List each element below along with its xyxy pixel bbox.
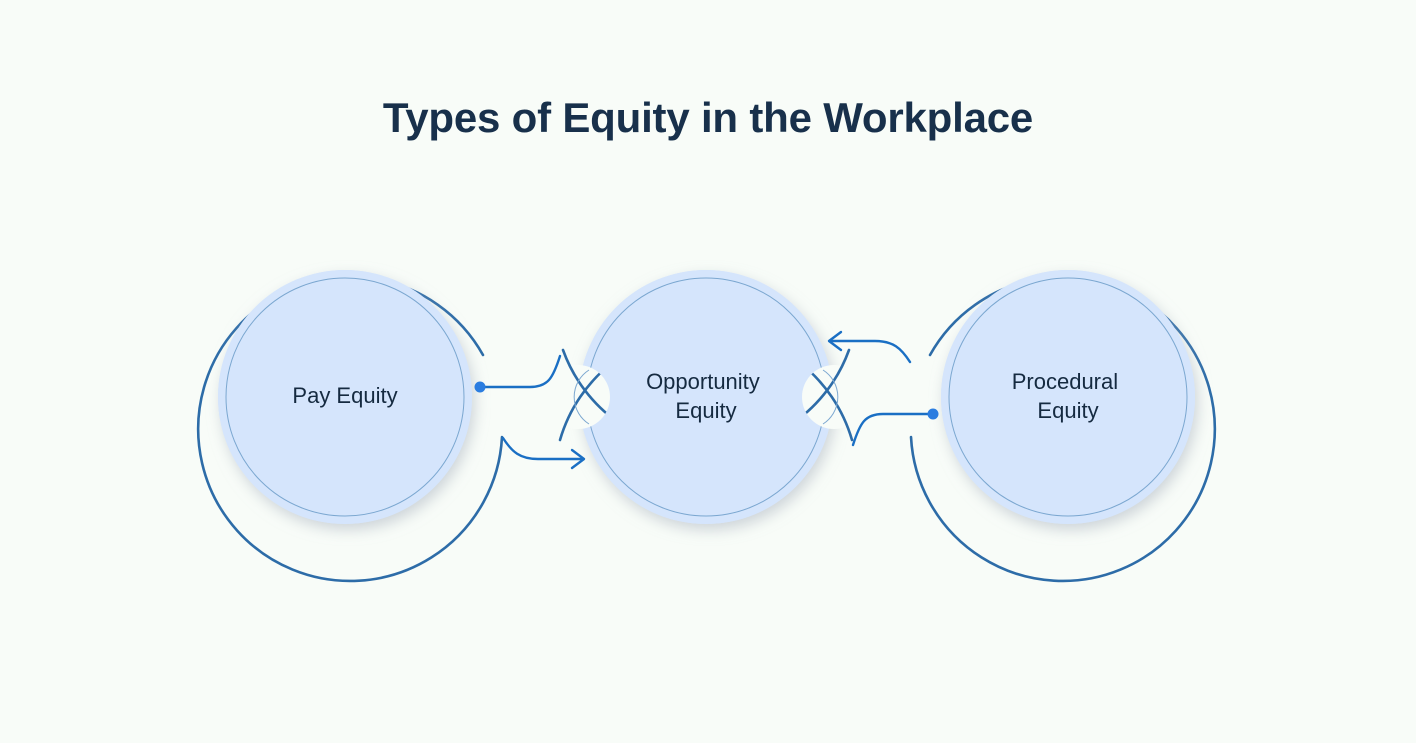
connector-line-arrow — [831, 341, 910, 362]
node-label-line: Equity — [1037, 398, 1098, 423]
disc-fill — [941, 270, 1195, 524]
connector-line-lower — [853, 414, 933, 445]
node-label-pay-equity: Pay Equity — [292, 383, 397, 408]
equity-diagram: Pay Equity Procedural Equity — [0, 0, 1416, 743]
diagram-page: Types of Equity in the Workplace — [0, 0, 1416, 743]
connector-pay-to-opportunity — [475, 356, 585, 468]
disc-fill — [579, 270, 833, 524]
connector-line-arrow — [503, 438, 582, 459]
connector-procedural-to-opportunity — [829, 332, 939, 445]
node-label-line: Procedural — [1012, 369, 1118, 394]
node-label-line: Opportunity — [646, 369, 760, 394]
node-opportunity-equity[interactable]: Opportunity Equity — [560, 270, 852, 524]
node-label-line: Equity — [675, 398, 736, 423]
node-procedural-equity[interactable]: Procedural Equity — [911, 270, 1215, 581]
node-pay-equity[interactable]: Pay Equity — [198, 270, 502, 581]
connector-line-upper — [480, 356, 560, 387]
connector-dot — [928, 409, 939, 420]
connector-dot — [475, 382, 486, 393]
node-label-line: Pay Equity — [292, 383, 397, 408]
